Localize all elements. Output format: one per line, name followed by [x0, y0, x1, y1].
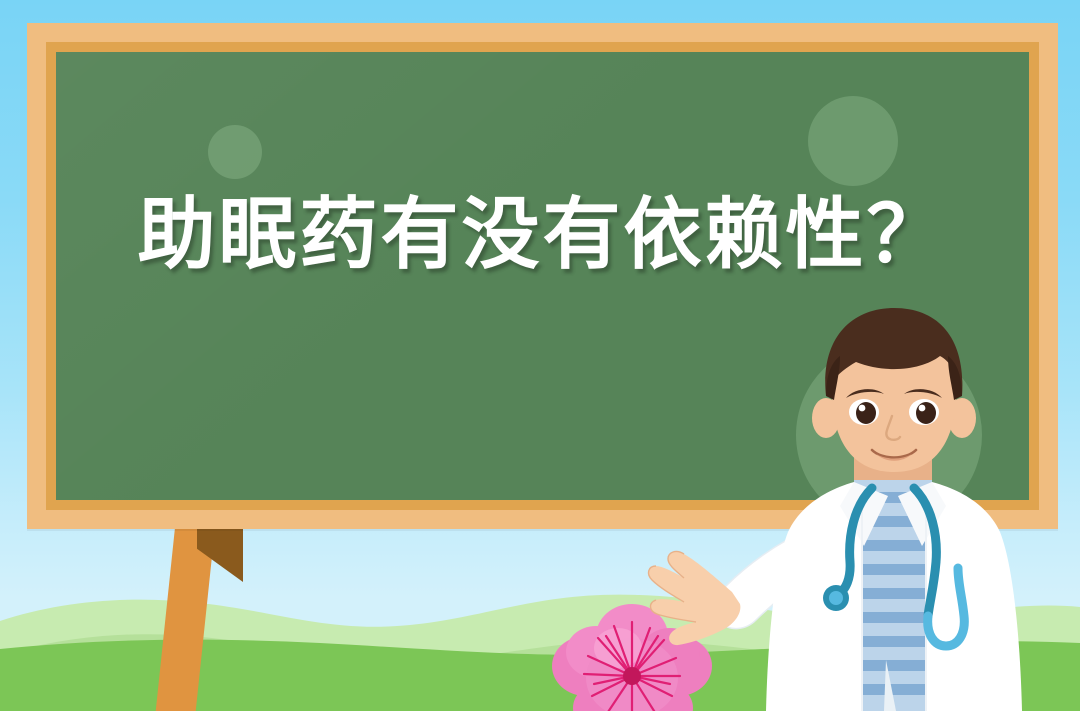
board-decor-circle-medium [808, 96, 898, 186]
doctor-eye-left [849, 399, 879, 425]
flower-core [623, 667, 641, 685]
stethoscope-diaphragm [829, 591, 843, 605]
doctor-eye-right [909, 399, 939, 425]
board-decor-circle-small [208, 125, 262, 179]
doctor-hand-left [649, 552, 741, 646]
chalkboard-title: 助眠药有没有依赖性？ [27, 195, 1058, 277]
doctor-head [812, 308, 976, 472]
illustration-scene: 助眠药有没有依赖性？ [0, 0, 1080, 711]
doctor-character [640, 300, 1080, 711]
